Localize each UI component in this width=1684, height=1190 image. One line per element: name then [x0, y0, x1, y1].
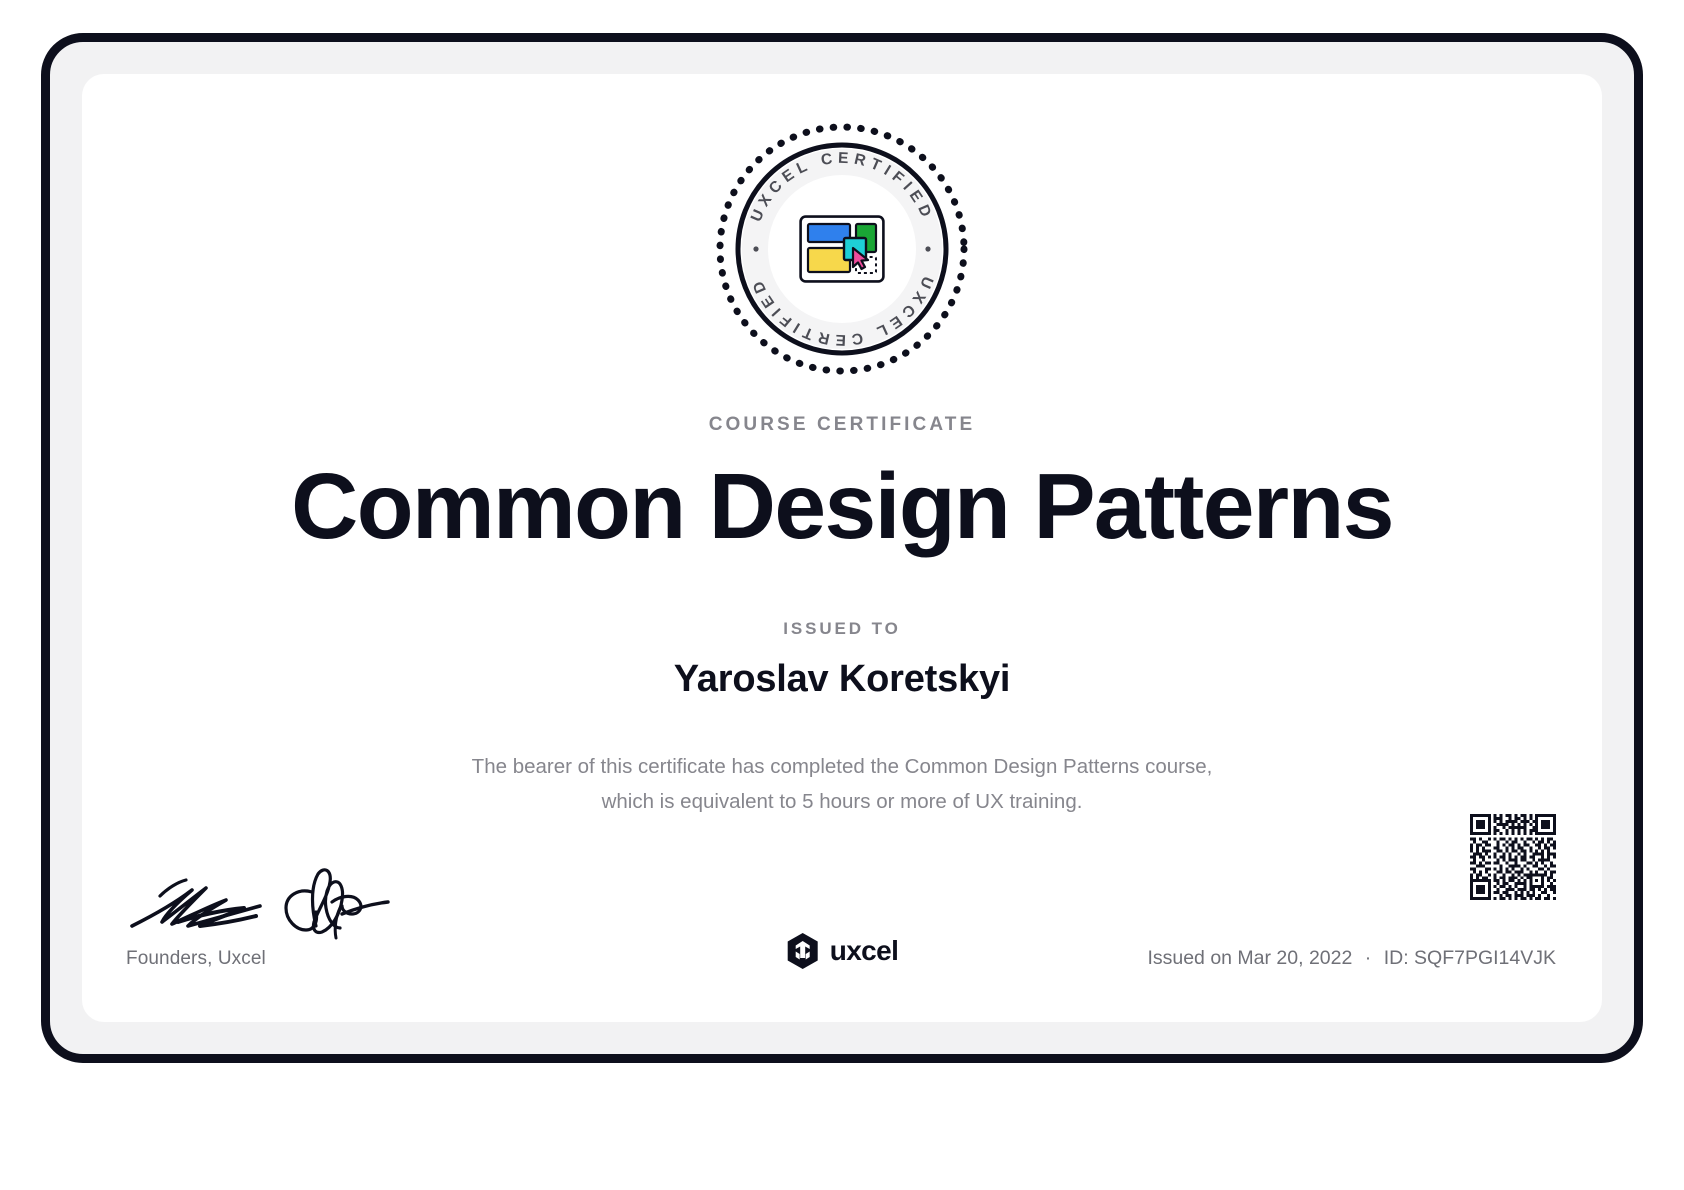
signature-caption: Founders, Uxcel — [126, 948, 456, 970]
certificate-title: Common Design Patterns — [82, 456, 1602, 556]
certificate-id: ID: SQF7PGI14VJK — [1384, 947, 1556, 969]
certificate-frame: UXCEL CERTIFIED UXCEL CERTIFIED — [41, 33, 1643, 1063]
qr-code-icon — [1470, 814, 1556, 900]
founders-signature-icon — [126, 862, 416, 942]
certification-seal: UXCEL CERTIFIED UXCEL CERTIFIED — [711, 118, 973, 380]
uxcel-brand: uxcel — [786, 932, 899, 970]
issued-to-label: ISSUED TO — [82, 619, 1602, 639]
uxcel-logo-icon — [786, 932, 820, 970]
certificate-card: UXCEL CERTIFIED UXCEL CERTIFIED — [82, 74, 1602, 1022]
certificate-page: UXCEL CERTIFIED UXCEL CERTIFIED — [0, 0, 1684, 1190]
certificate-meta: Issued on Mar 20, 2022 · ID: SQF7PGI14VJ… — [1147, 947, 1556, 970]
verification-qr-code[interactable] — [1470, 814, 1556, 900]
signature-block: Founders, Uxcel — [126, 862, 456, 970]
certificate-description: The bearer of this certificate has compl… — [462, 749, 1222, 820]
issue-date: Issued on Mar 20, 2022 — [1147, 947, 1352, 969]
meta-separator: · — [1358, 947, 1379, 969]
uxcel-wordmark: uxcel — [830, 935, 899, 967]
course-certificate-label: COURSE CERTIFICATE — [82, 414, 1602, 436]
design-patterns-icon — [799, 215, 885, 283]
recipient-name: Yaroslav Koretskyi — [82, 658, 1602, 701]
